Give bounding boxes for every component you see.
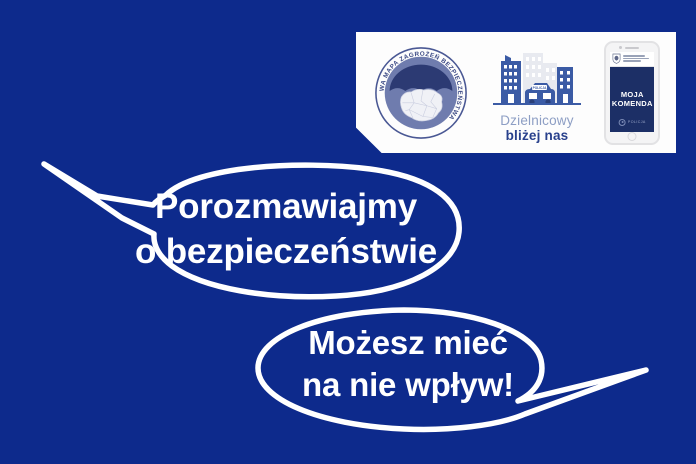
- bubble1-line1: Porozmawiajmy: [116, 185, 456, 230]
- svg-text:POLICJA: POLICJA: [533, 86, 548, 90]
- dzielnicowy-caption-line1: Dzielnicowy: [500, 113, 573, 128]
- poster-canvas: KRAJOWA MAPA ZAGROŻEŃ BEZPIECZEŃSTWA: [0, 0, 696, 464]
- policja-badge-label: POLICJA: [628, 120, 646, 124]
- phone-app-header-text: [623, 55, 649, 62]
- phone-speaker-icon: [625, 47, 639, 49]
- moja-komenda-phone-logo: MOJA KOMENDA POLICJA: [604, 41, 660, 145]
- moja-komenda-line2: KOMENDA: [612, 99, 653, 108]
- policja-badge: POLICJA: [619, 119, 646, 126]
- campaign-logo-banner: KRAJOWA MAPA ZAGROŻEŃ BEZPIECZEŃSTWA: [356, 32, 676, 153]
- dzielnicowy-caption-line2: bliżej nas: [506, 128, 569, 143]
- policja-badge-icon: [619, 119, 626, 126]
- krajowa-mapa-zagrozen-logo: KRAJOWA MAPA ZAGROŻEŃ BEZPIECZEŃSTWA: [372, 44, 470, 142]
- bubble2-line2: na nie wpływ!: [258, 364, 558, 406]
- phone-home-button-icon: [628, 132, 637, 141]
- bubble-porozmawiajmy-text: Porozmawiajmy o bezpieczeństwie: [116, 185, 456, 275]
- polish-eagle-emblem-icon: [612, 53, 621, 64]
- bubble2-line1: Możesz mieć: [258, 322, 558, 364]
- moja-komenda-line1: MOJA: [621, 90, 644, 99]
- moja-komenda-app-screen: MOJA KOMENDA POLICJA: [610, 67, 654, 132]
- dzielnicowy-blizej-nas-logo: POLICJA Dzielnicowy bliżej nas: [489, 43, 585, 143]
- city-skyline-icon: POLICJA: [491, 49, 583, 111]
- phone-app-header: [610, 52, 654, 67]
- bubble-mozesz-miec-text: Możesz mieć na nie wpływ!: [258, 322, 558, 406]
- bubble1-line2: o bezpieczeństwie: [116, 230, 456, 275]
